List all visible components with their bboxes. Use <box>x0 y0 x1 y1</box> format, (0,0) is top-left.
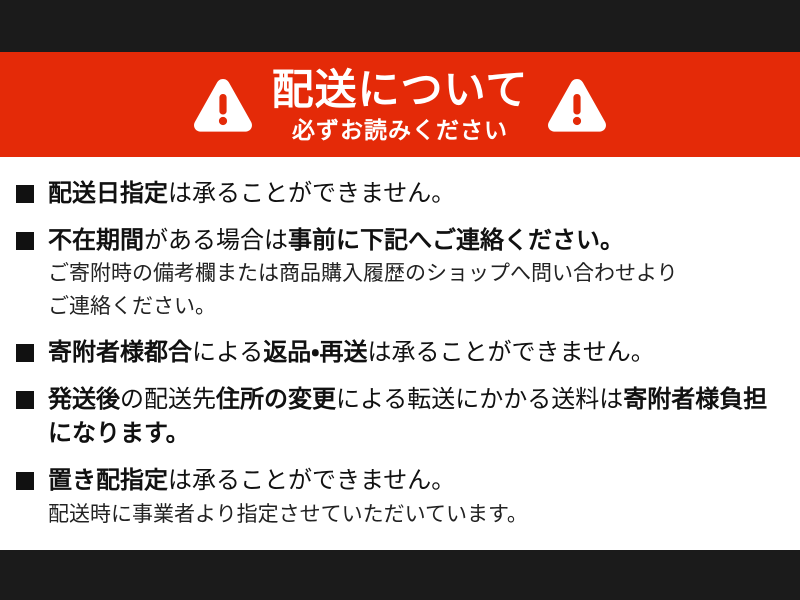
notice-plain: は承ることができません。 <box>168 467 455 494</box>
header-text-block: 配送について 必ずお読みください <box>272 67 529 142</box>
bullet-square-icon <box>16 344 34 362</box>
top-letterbox-band <box>0 0 800 52</box>
notice-emphasis: 置き配指定 <box>48 467 168 494</box>
notice-main-text: 配送日指定は承ることができません。 <box>48 177 786 211</box>
notice-item: 置き配指定は承ることができません。配送時に事業者より指定させていただいています。 <box>16 464 786 531</box>
notice-item: 配送日指定は承ることができません。 <box>16 177 786 211</box>
page-title: 配送について <box>272 67 529 112</box>
bullet-square-icon <box>16 185 34 203</box>
notice-emphasis: 住所の変更 <box>216 386 336 413</box>
bullet-square-icon <box>16 472 34 490</box>
notice-emphasis: 発送後 <box>48 386 120 413</box>
notice-item: 発送後の配送先住所の変更による転送にかかる送料は寄附者様負担になります。 <box>16 383 786 451</box>
notice-emphasis: 返品・再送 <box>263 339 367 366</box>
bullet-square-icon <box>16 232 34 250</box>
warning-triangle-icon <box>192 76 254 134</box>
notice-plain: による転送にかかる送料は <box>336 386 623 413</box>
notice-item: 不在期間がある場合は事前に下記へご連絡ください。ご寄附時の備考欄または商品購入履… <box>16 224 786 323</box>
notice-list: 配送日指定は承ることができません。不在期間がある場合は事前に下記へご連絡ください… <box>0 157 800 550</box>
notice-sub-text: ご寄附時の備考欄または商品購入履歴のショップへ問い合わせより <box>48 258 786 291</box>
notice-plain: がある場合は <box>144 227 288 254</box>
notice-plain: の配送先 <box>120 386 216 413</box>
bottom-letterbox-band <box>0 550 800 600</box>
notice-emphasis: 事前に下記へご連絡ください。 <box>288 227 624 254</box>
shipping-notice-banner: 配送について 必ずお読みください 配送日指定は承ることができません。不在期間があ… <box>0 0 800 600</box>
notice-plain: による <box>192 339 263 366</box>
notice-emphasis: 配送日指定 <box>48 180 168 207</box>
notice-item: 寄附者様都合による返品・再送は承ることができません。 <box>16 336 786 370</box>
page-subtitle: 必ずお読みください <box>292 119 508 142</box>
notice-header: 配送について 必ずお読みください <box>0 52 800 157</box>
notice-main-text: 不在期間がある場合は事前に下記へご連絡ください。 <box>48 224 786 258</box>
notice-main-text: 寄附者様都合による返品・再送は承ることができません。 <box>48 336 786 370</box>
notice-plain: は承ることができません。 <box>367 339 654 366</box>
notice-plain: は承ることができません。 <box>168 180 455 207</box>
notice-main-text: 発送後の配送先住所の変更による転送にかかる送料は寄附者様負担になります。 <box>48 383 786 451</box>
warning-triangle-icon <box>546 76 608 134</box>
notice-sub-text: 配送時に事業者より指定させていただいています。 <box>48 499 786 532</box>
notice-emphasis: 不在期間 <box>48 227 144 254</box>
notice-emphasis: 寄附者様都合 <box>48 339 192 366</box>
notice-sub-text: ご連絡ください。 <box>48 291 786 324</box>
notice-main-text: 置き配指定は承ることができません。 <box>48 464 786 498</box>
bullet-square-icon <box>16 391 34 409</box>
